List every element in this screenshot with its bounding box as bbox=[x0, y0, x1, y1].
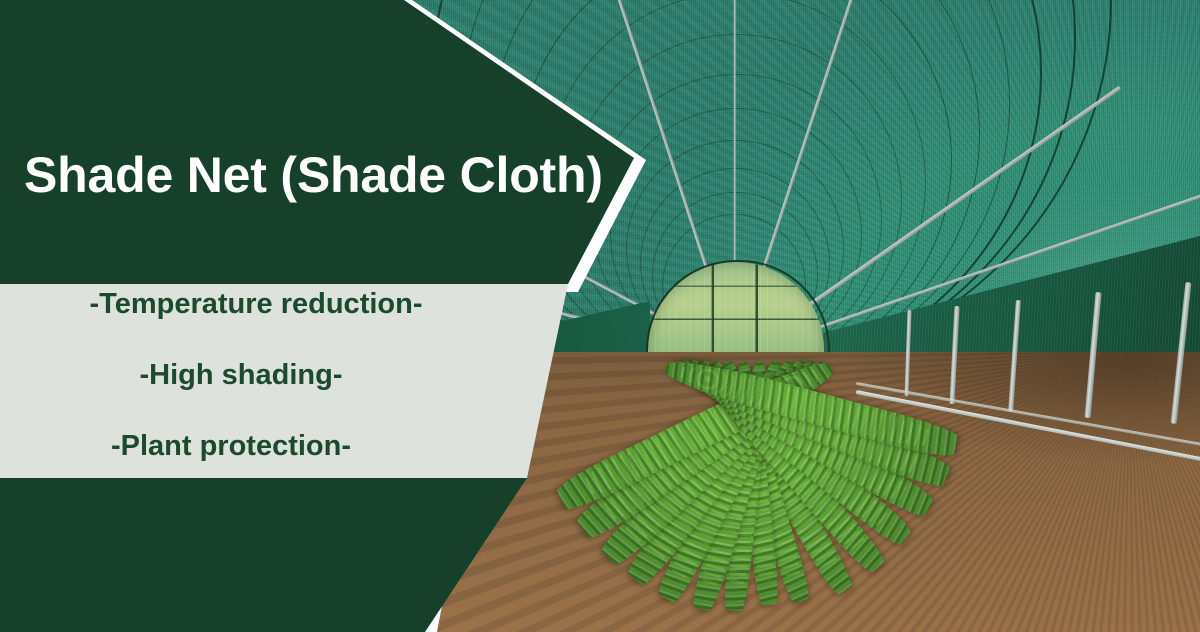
feature-item-high-shading: -High shading- bbox=[140, 361, 343, 390]
overlay-dark-top bbox=[0, 0, 634, 284]
overlay-dark-bottom bbox=[0, 478, 527, 632]
page-title: Shade Net (Shade Cloth) bbox=[24, 148, 624, 203]
feature-item-temperature-reduction: -Temperature reduction- bbox=[89, 290, 422, 319]
shade-net-banner: Shade Net (Shade Cloth) -Temperature red… bbox=[0, 0, 1200, 632]
feature-list: -Temperature reduction- -High shading- -… bbox=[0, 290, 520, 461]
feature-item-plant-protection: -Plant protection- bbox=[111, 432, 351, 461]
